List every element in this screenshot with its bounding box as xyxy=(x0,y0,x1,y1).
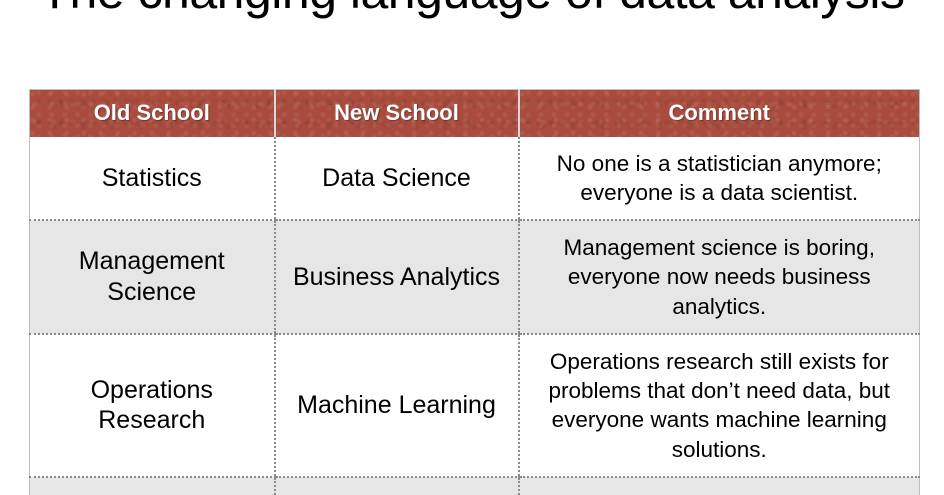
table-header-row: Old School New School Comment xyxy=(30,90,920,137)
comparison-table: Old School New School Comment Statistics… xyxy=(29,89,920,495)
cell-old-school: Data xyxy=(30,477,275,495)
cell-new-school: Machine Learning xyxy=(275,334,519,477)
cell-comment: Management science is boring, everyone n… xyxy=(519,220,920,334)
cell-comment: No one is a statistician anymore; everyo… xyxy=(519,137,920,221)
cell-old-school: Operations Research xyxy=(30,334,275,477)
cell-comment: There is no such thing as small xyxy=(519,477,920,495)
slide-title-clip: The changing language of data analysis xyxy=(0,0,944,20)
table-row: Data “Big Data” There is no such thing a… xyxy=(30,477,920,495)
column-header-new-school: New School xyxy=(275,90,519,137)
cell-comment: Operations research still exists for pro… xyxy=(519,334,920,477)
page-title: The changing language of data analysis xyxy=(0,0,944,20)
cell-new-school: “Big Data” xyxy=(275,477,519,495)
cell-old-school: Management Science xyxy=(30,220,275,334)
table-body: Statistics Data Science No one is a stat… xyxy=(30,137,920,495)
slide-canvas: The changing language of data analysis O… xyxy=(0,0,944,495)
cell-new-school: Business Analytics xyxy=(275,220,519,334)
comparison-table-container: Old School New School Comment Statistics… xyxy=(29,89,919,495)
column-header-comment: Comment xyxy=(519,90,920,137)
table-row: Statistics Data Science No one is a stat… xyxy=(30,137,920,221)
table-header: Old School New School Comment xyxy=(30,90,920,137)
table-row: Management Science Business Analytics Ma… xyxy=(30,220,920,334)
cell-new-school: Data Science xyxy=(275,137,519,221)
cell-old-school: Statistics xyxy=(30,137,275,221)
table-row: Operations Research Machine Learning Ope… xyxy=(30,334,920,477)
column-header-old-school: Old School xyxy=(30,90,275,137)
